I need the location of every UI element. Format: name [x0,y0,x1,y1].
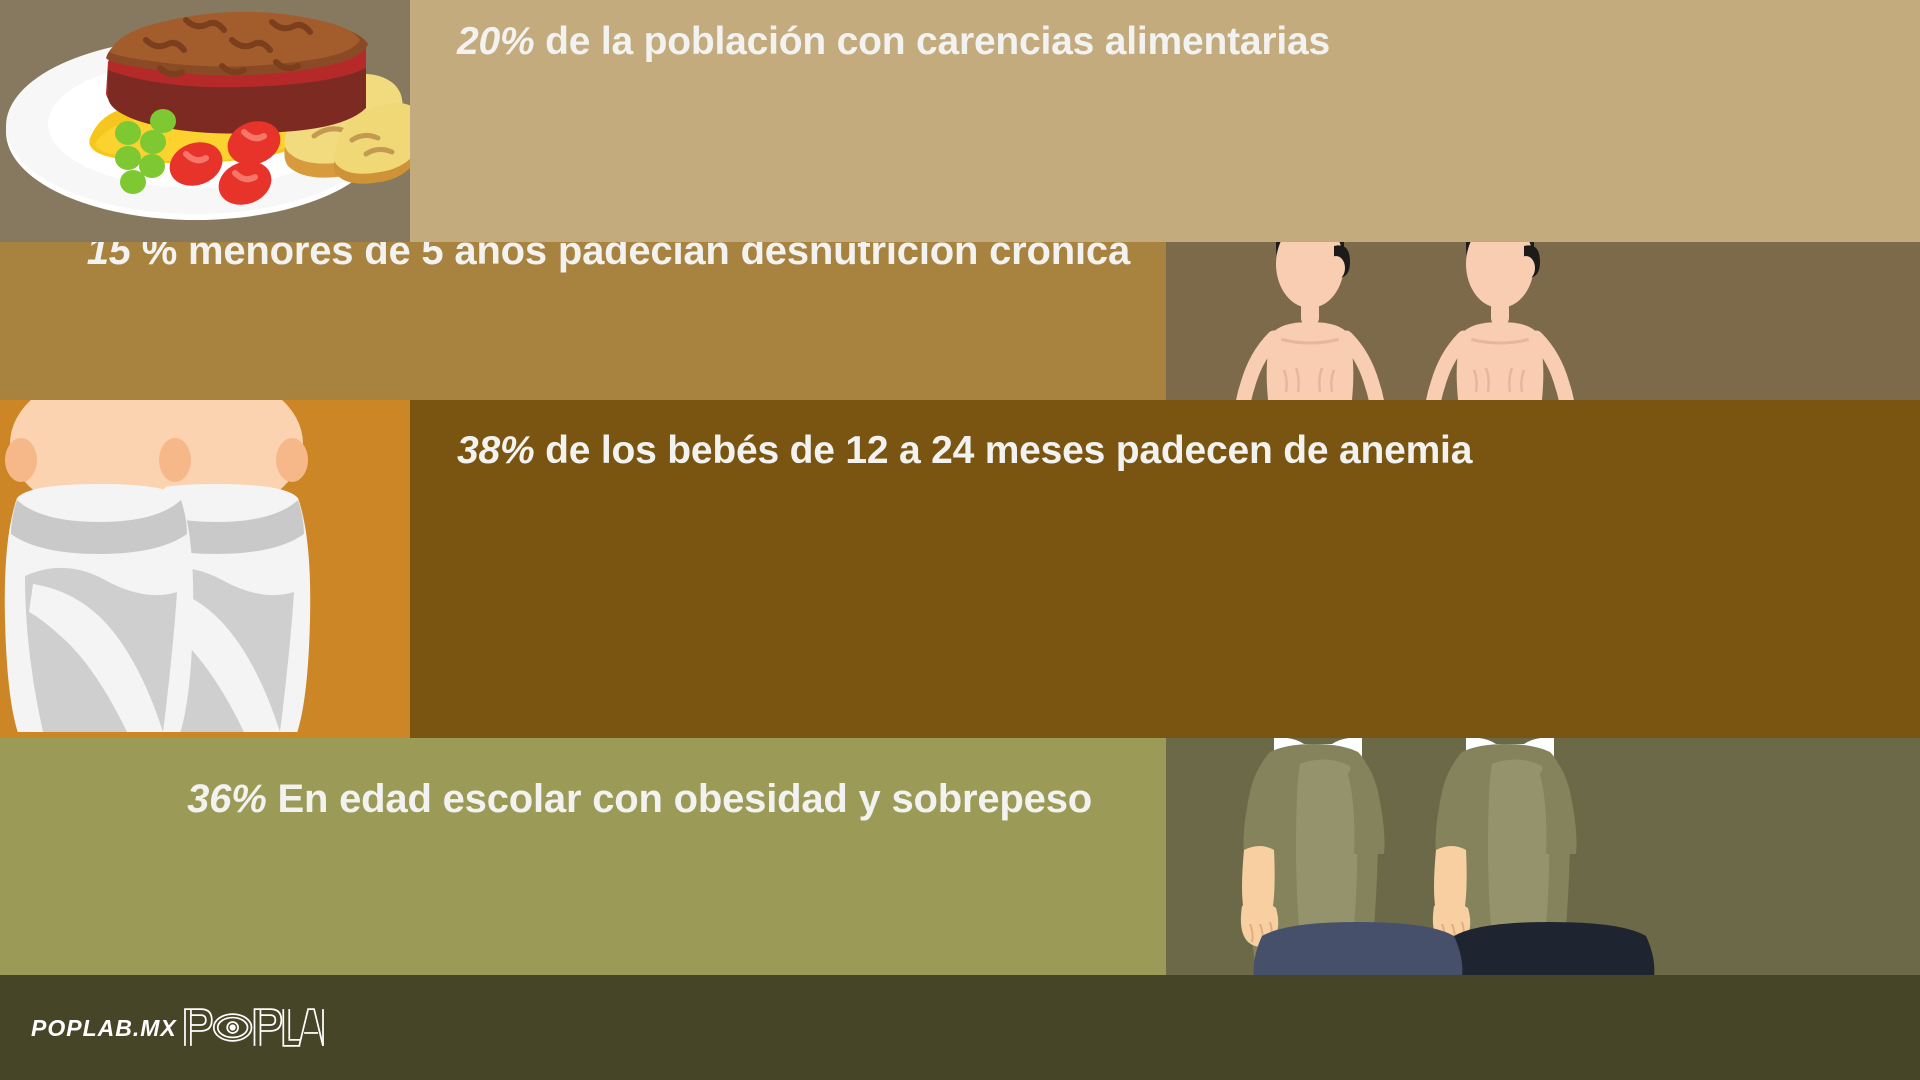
footer-bar: POPLAB.MX [0,975,1920,1080]
row-2-text-panel: 15 % menores de 5 años padecían desnutri… [0,242,1166,400]
row-3-image-panel [0,400,410,738]
malnourished-children-illustration [1166,242,1920,400]
overweight-people-illustration [1166,738,1920,975]
stat-row-4: 36% En edad escolar con obesidad y sobre… [0,738,1920,975]
stat-text-2: 15 % menores de 5 años padecían desnutri… [38,242,1130,276]
stat-row-3: 38% de los bebés de 12 a 24 meses padece… [0,400,1920,738]
stat-body-1: de la población con carencias alimentari… [534,20,1330,63]
stat-text-3: 38% de los bebés de 12 a 24 meses padece… [457,427,1487,475]
stat-body-3: de los bebés de 12 a 24 meses padecen de… [534,429,1472,472]
stat-number-1: 20% [457,20,534,63]
stat-row-2: 15 % menores de 5 años padecían desnutri… [0,242,1920,400]
row-1-image-panel [0,0,410,242]
stat-body-2: % menores de 5 años padecían desnutrició… [131,242,1130,273]
stat-number-2: 15 [87,242,131,273]
stat-number-4: 36% [187,777,266,821]
stat-text-4: 36% En edad escolar con obesidad y sobre… [50,775,1092,824]
plate-of-food-illustration [0,0,410,242]
stat-body-4: En edad escolar con obesidad y sobrepeso [267,777,1092,821]
infographic-root: 20% de la población con carencias alimen… [0,0,1920,1080]
footer-site-url[interactable]: POPLAB.MX [31,1015,177,1042]
row-3-text-panel: 38% de los bebés de 12 a 24 meses padece… [410,400,1920,738]
row-4-text-panel: 36% En edad escolar con obesidad y sobre… [0,738,1166,975]
row-2-image-panel [1166,242,1920,400]
poplab-logo[interactable] [181,1005,325,1049]
stat-number-3: 38% [457,429,534,472]
stat-row-1: 20% de la población con carencias alimen… [0,0,1920,242]
babies-in-diapers-illustration [0,400,410,732]
stat-text-1: 20% de la población con carencias alimen… [457,18,1457,66]
row-4-image-panel [1166,738,1920,975]
row-1-text-panel: 20% de la población con carencias alimen… [410,0,1920,242]
